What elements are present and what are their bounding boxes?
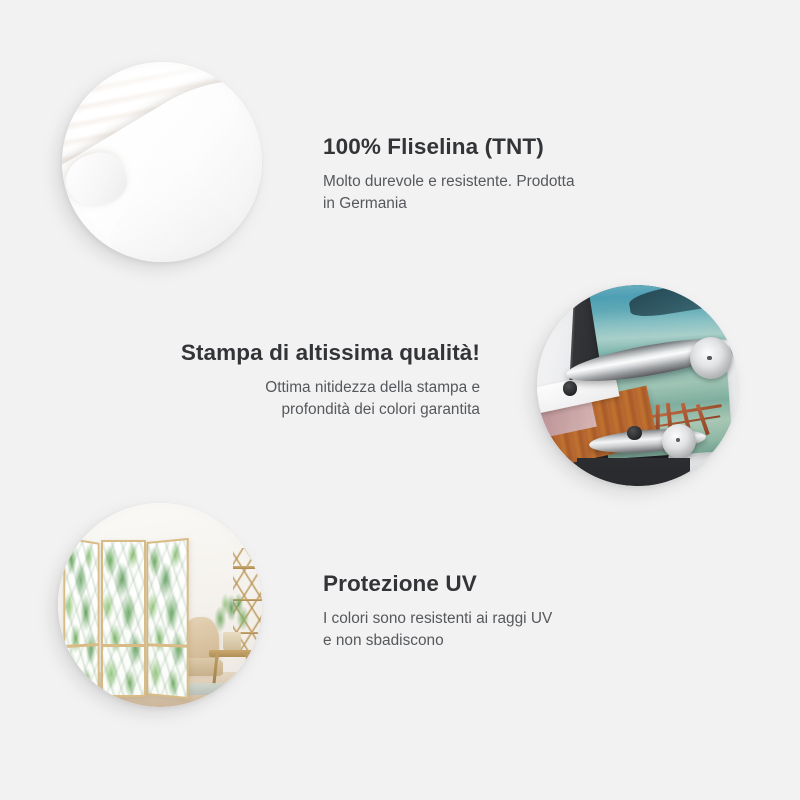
folding-room-divider	[62, 540, 197, 697]
divider-panel-left	[63, 537, 99, 700]
feature-protezione-uv-description: I colori sono resistenti ai raggi UV e n…	[323, 608, 723, 653]
feature-fliselina-description-line2: in Germania	[323, 195, 407, 212]
feature-fliselina-description: Molto durevole e resistente. Prodotta in…	[323, 171, 723, 216]
feature-stampa-description: Ottima nitidezza della stampa e profondi…	[80, 377, 480, 422]
printer-lower-roller-cap	[662, 424, 696, 458]
leaf-vein-texture	[65, 539, 98, 698]
infographic-stage: 100% Fliselina (TNT) Molto durevole e re…	[0, 0, 800, 800]
wallpaper-roll-image	[62, 62, 262, 262]
feature-protezione-uv-title: Protezione UV	[323, 570, 723, 597]
feature-stampa-description-line2: profondità dei colori garantita	[282, 401, 481, 418]
feature-protezione-uv-description-line1: I colori sono resistenti ai raggi UV	[323, 610, 552, 627]
feature-stampa-description-line1: Ottima nitidezza della stampa e	[265, 379, 480, 396]
wallpaper-roll-illustration	[62, 62, 262, 262]
feature-protezione-uv-description-line2: e non sbadiscono	[323, 632, 444, 649]
shelf-bar	[233, 566, 262, 568]
leaf-vein-texture	[148, 540, 187, 697]
feature-fliselina-description-line1: Molto durevole e resistente. Prodotta	[323, 173, 575, 190]
room-divider-illustration	[58, 503, 262, 707]
printer-knob	[627, 426, 641, 440]
printer-illustration	[537, 285, 738, 486]
feature-fliselina-text: 100% Fliselina (TNT) Molto durevole e re…	[323, 133, 723, 216]
divider-panel-right	[146, 538, 189, 699]
feature-fliselina-title: 100% Fliselina (TNT)	[323, 133, 723, 160]
feature-stampa-title: Stampa di altissima qualità!	[80, 339, 480, 366]
feature-protezione-uv-text: Protezione UV I colori sono resistenti a…	[323, 570, 723, 653]
printer-floor-shadow	[549, 454, 734, 486]
printer-knob	[563, 381, 577, 395]
potted-palm-leaves	[207, 591, 258, 636]
room-divider-image	[58, 503, 262, 707]
leaf-vein-texture	[103, 542, 143, 695]
plant-pot	[223, 632, 240, 652]
printer-image	[537, 285, 738, 486]
divider-panel-center	[101, 540, 145, 697]
feature-stampa-text: Stampa di altissima qualità! Ottima niti…	[80, 339, 480, 422]
